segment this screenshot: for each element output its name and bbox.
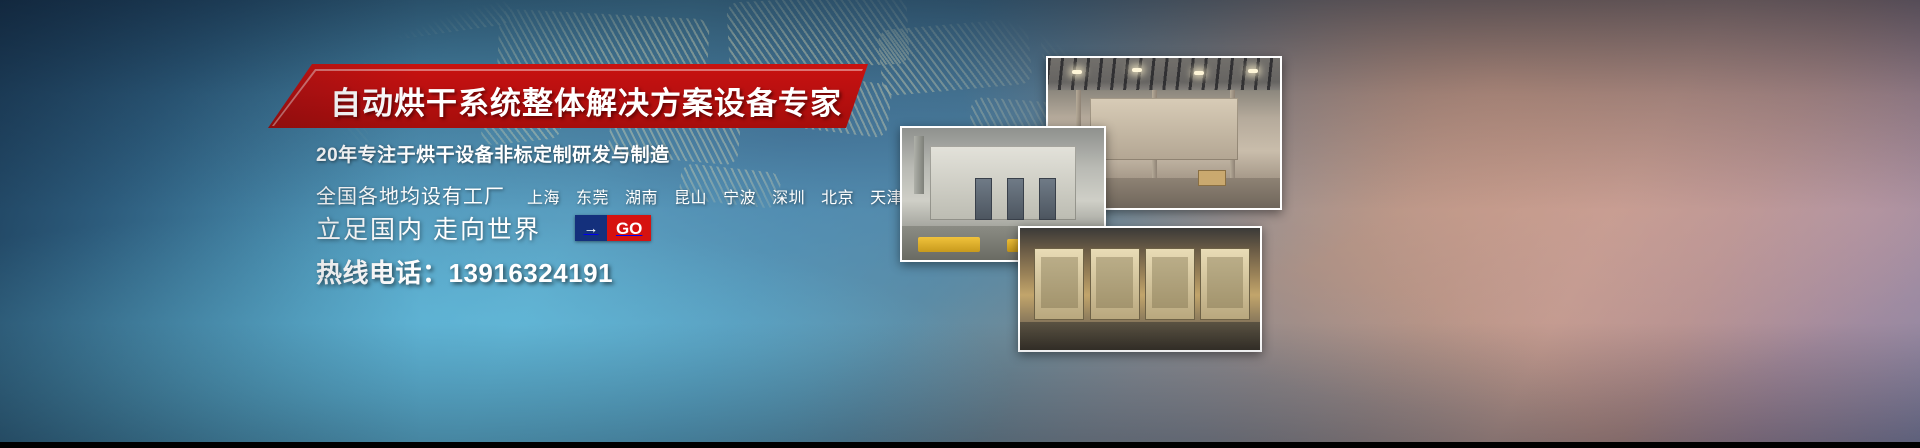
promo-banner: 自动烘干系统整体解决方案设备专家 20年专注于烘干设备非标定制研发与制造 全国各… <box>0 0 1920 448</box>
background-vignette <box>0 0 1920 448</box>
bottom-edge-strip <box>0 442 1920 448</box>
